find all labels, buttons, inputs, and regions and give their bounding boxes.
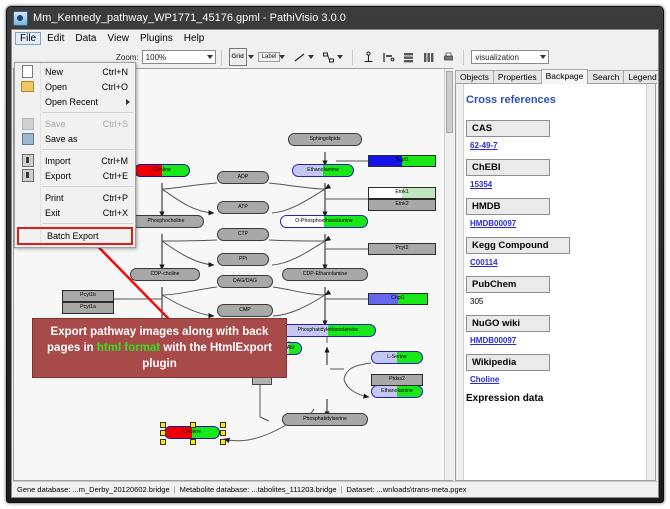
gene-ptdss2[interactable]: Ptdss2 [371, 374, 423, 386]
import-icon [21, 154, 34, 167]
xref-pubchem: PubChem 305 [466, 276, 643, 306]
toolbar-separator-3 [463, 50, 464, 65]
chevron-down-icon-2 [540, 55, 546, 59]
status-metabolite-db-label: Metabolite database: [180, 485, 250, 494]
xref-pubchem-value: 305 [470, 297, 643, 306]
file-menu-print[interactable]: Print Ctrl+P [15, 190, 135, 205]
file-menu-new-label: New [45, 67, 63, 77]
gene-label: Pcyt1b [80, 293, 96, 298]
menu-view[interactable]: View [102, 32, 134, 45]
xref-nugo: NuGO wiki HMDB00097 [466, 315, 643, 345]
resize-handle-sw[interactable] [160, 439, 166, 445]
label-dropdown-icon[interactable] [279, 55, 285, 59]
open-folder-icon [21, 80, 34, 93]
gene-pcyt1a[interactable]: Pcyt1a [62, 302, 114, 314]
node-cdp-ethanolamine[interactable]: CDP-Ethanolamine [282, 268, 368, 281]
tab-properties[interactable]: Properties [493, 70, 542, 83]
node-label: Choline [183, 430, 201, 435]
menu-file[interactable]: File [15, 32, 41, 45]
scrollbar-thumb[interactable] [446, 71, 453, 133]
anchor-icon[interactable] [360, 49, 376, 65]
window-title: Mm_Kennedy_pathway_WP1771_45176.gpml - P… [33, 12, 346, 24]
file-menu-exit-accel: Ctrl+X [103, 208, 128, 218]
gene-label: Chpt1 [391, 296, 405, 301]
file-menu-separator-4 [42, 223, 133, 224]
file-menu-batch-export[interactable]: Batch Export [17, 227, 133, 245]
node-label: CDP-Ethanolamine [303, 272, 347, 277]
label-button[interactable]: Label [258, 52, 281, 62]
gene-label: Etnk2 [395, 202, 408, 207]
file-menu-open-accel: Ctrl+O [102, 82, 128, 92]
print-icon[interactable] [440, 49, 456, 65]
file-menu-print-label: Print [45, 193, 64, 203]
file-menu-import-label: Import [45, 156, 71, 166]
gene-label: Pcyt2 [396, 246, 409, 251]
expression-data-heading: Expression data [466, 393, 643, 404]
xref-wikipedia-value: Choline [470, 375, 643, 384]
status-divider-1: | [174, 485, 176, 494]
xref-cas-value: 62-49-7 [470, 141, 643, 150]
save-icon [21, 117, 34, 130]
xref-pubchem-source: PubChem [466, 276, 550, 293]
xref-hmdb-source: HMDB [466, 198, 550, 215]
save-as-icon [21, 132, 34, 145]
status-bar: Gene database: ...m_Derby_20120602.bridg… [13, 481, 657, 496]
file-menu-save-accel: Ctrl+S [103, 119, 128, 129]
xref-chebi-value: 15354 [470, 180, 643, 189]
node-label: DAG/DAG [233, 279, 257, 284]
new-file-icon [21, 65, 34, 78]
align-left-icon[interactable] [380, 49, 396, 65]
zoom-label: Zoom: [116, 53, 139, 62]
node-label: L-Serine [387, 355, 407, 360]
node-ppi[interactable]: PPi [217, 253, 269, 266]
node-label: CTP [238, 232, 248, 237]
line-tool-icon[interactable] [291, 49, 307, 65]
xref-wikipedia-link[interactable]: Choline [470, 375, 499, 384]
node-cdp-choline[interactable]: CDP-choline [130, 268, 200, 281]
resize-handle-nw[interactable] [160, 422, 166, 428]
file-menu-save-as[interactable]: Save as [15, 131, 135, 146]
xref-cas-source: CAS [466, 120, 550, 137]
node-cmp[interactable]: CMP [217, 304, 273, 317]
file-menu-open-recent[interactable]: Open Recent [15, 94, 135, 109]
visualization-combo[interactable]: visualization [471, 50, 549, 64]
file-menu-import-accel: Ctrl+M [101, 156, 128, 166]
distribute-icon[interactable] [420, 49, 436, 65]
tab-objects[interactable]: Objects [455, 70, 494, 83]
node-choline-top[interactable]: Choline [134, 164, 190, 177]
file-menu-export[interactable]: Export Ctrl+E [15, 168, 135, 183]
resize-handle-w[interactable] [160, 430, 166, 436]
xref-nugo-link[interactable]: HMDB00097 [470, 336, 516, 345]
node-phosphatidylserine[interactable]: Phosphatidylserine [282, 413, 368, 426]
node-dag[interactable]: DAG/DAG [217, 275, 273, 288]
gene-label: Etnk1 [395, 190, 408, 195]
file-menu-popup[interactable]: New Ctrl+N Open Ctrl+O Open Recent Save [14, 62, 136, 248]
screenshot-root: Mm_Kennedy_pathway_WP1771_45176.gpml - P… [0, 0, 670, 509]
window-client-area: File Edit Data View Plugins Help Zoom: 1… [11, 29, 659, 498]
gene-label: Pcyt1a [80, 305, 96, 310]
visualization-value: visualization [475, 53, 519, 62]
node-adp[interactable]: ADP [217, 171, 269, 184]
gene-label: Ptdss2 [389, 377, 405, 382]
node-label: Phosphatidylethanolamine [298, 328, 359, 333]
node-label: Ethanolamine [381, 389, 413, 394]
backpage-content: Cross references CAS 62-49-7 ChEBI 15354… [455, 83, 656, 481]
node-label: Phosphocholine [148, 219, 185, 224]
file-menu-exit-label: Exit [45, 208, 60, 218]
zoom-value: 100% [146, 53, 166, 62]
resize-handle-e[interactable] [220, 430, 226, 436]
status-dataset-label: Dataset: [346, 485, 374, 494]
xref-chebi: ChEBI 15354 [466, 159, 643, 189]
resize-handle-s[interactable] [190, 439, 196, 445]
node-label: Ethanolamine [307, 168, 339, 173]
file-menu-open-recent-label: Open Recent [45, 97, 98, 107]
line-dropdown-icon[interactable] [308, 55, 314, 59]
gene-pcyt2[interactable]: Pcyt2 [368, 243, 436, 255]
app-icon [13, 11, 28, 26]
chevron-down-icon [207, 55, 213, 59]
gene-etnk2[interactable]: Etnk2 [368, 199, 436, 211]
xref-wikipedia: Wikipedia Choline [466, 354, 643, 384]
xref-cas-link[interactable]: 62-49-7 [470, 141, 498, 150]
gene-label: Sgpl1 [395, 158, 408, 163]
backpage-left-gutter [456, 84, 464, 480]
submenu-arrow-icon [126, 99, 130, 105]
window-titlebar: Mm_Kennedy_pathway_WP1771_45176.gpml - P… [7, 7, 663, 29]
xref-nugo-source: NuGO wiki [466, 315, 550, 332]
shape-dropdown-icon[interactable] [337, 55, 343, 59]
file-menu-print-accel: Ctrl+P [103, 193, 128, 203]
file-menu-batch-export-label: Batch Export [47, 231, 99, 241]
node-ethanolamine-top[interactable]: Ethanolamine [292, 164, 354, 177]
status-gene-db-label: Gene database: [17, 485, 70, 494]
cross-references-panel: Cross references CAS 62-49-7 ChEBI 15354… [466, 90, 643, 480]
status-gene-db-value: ...m_Derby_20120602.bridge [72, 485, 169, 494]
export-icon [21, 169, 34, 182]
xref-nugo-value: HMDB00097 [470, 336, 643, 345]
file-menu-exit[interactable]: Exit Ctrl+X [15, 205, 135, 220]
file-menu-separator-2 [42, 149, 133, 150]
side-panel: Objects Properties Backpage Search Legen… [453, 68, 657, 481]
zoom-combo[interactable]: 100% [142, 50, 216, 64]
gene-pcyt1b[interactable]: Pcyt1b [62, 290, 114, 302]
grid-button[interactable]: Grid [229, 48, 247, 66]
xref-kegg-value: C00114 [470, 258, 643, 267]
xref-hmdb-link[interactable]: HMDB00097 [470, 219, 516, 228]
menu-data[interactable]: Data [70, 32, 101, 45]
menu-bar: File Edit Data View Plugins Help [12, 30, 658, 47]
xref-chebi-link[interactable]: 15354 [470, 180, 492, 189]
node-label: CDP-choline [150, 272, 179, 277]
file-menu-save[interactable]: Save Ctrl+S [15, 116, 135, 131]
status-metabolite-db-value: ...tabolites_111203.bridge [251, 485, 336, 494]
file-menu-export-label: Export [45, 171, 71, 181]
xref-hmdb-value: HMDB00097 [470, 219, 643, 228]
xref-kegg-source: Kegg Compound [466, 237, 570, 254]
tab-backpage[interactable]: Backpage [541, 69, 589, 84]
xref-wikipedia-source: Wikipedia [466, 354, 550, 371]
backpage-vertical-scrollbar[interactable] [646, 84, 655, 480]
node-label: ADP [238, 175, 249, 180]
node-ethanolamine-bottom[interactable]: Ethanolamine [371, 385, 423, 398]
node-sphingolipids[interactable]: Sphingolipids [288, 133, 362, 146]
node-label: Sphingolipids [310, 137, 341, 142]
file-menu-open-label: Open [45, 82, 67, 92]
file-menu-import[interactable]: Import Ctrl+M [15, 153, 135, 168]
node-o-phosphoethanolamine[interactable]: O-Phosphoethanolamine [280, 215, 368, 228]
callout-text: Export pathway images along with back pa… [39, 324, 280, 372]
resize-handle-ne[interactable] [220, 422, 226, 428]
node-phosphocholine[interactable]: Phosphocholine [128, 215, 204, 228]
shape-tool-icon[interactable] [320, 49, 336, 65]
file-menu-save-label: Save [45, 119, 66, 129]
xref-cas: CAS 62-49-7 [466, 120, 643, 150]
grid-dropdown-icon[interactable] [248, 55, 254, 59]
node-ctp[interactable]: CTP [217, 228, 269, 241]
side-panel-tabs: Objects Properties Backpage Search Legen… [455, 68, 657, 84]
file-menu-separator-1 [42, 112, 133, 113]
node-label: CMP [239, 308, 251, 313]
node-label: ATP [238, 205, 248, 210]
callout-part2: with the HtmlExport plugin [142, 342, 272, 370]
menu-edit[interactable]: Edit [42, 32, 69, 45]
toolbar-separator [221, 50, 222, 65]
toolbar-separator-2 [352, 50, 353, 65]
xref-kegg-link[interactable]: C00114 [470, 258, 498, 267]
menu-help[interactable]: Help [179, 32, 210, 45]
align-stack-icon[interactable] [400, 49, 416, 65]
cross-references-heading: Cross references [466, 94, 643, 106]
file-menu-new[interactable]: New Ctrl+N [15, 64, 135, 79]
file-menu-export-accel: Ctrl+E [103, 171, 128, 181]
node-label: Phosphatidylserine [303, 417, 347, 422]
node-l-serine[interactable]: L-Serine [371, 351, 423, 364]
xref-chebi-source: ChEBI [466, 159, 550, 176]
application-window: Mm_Kennedy_pathway_WP1771_45176.gpml - P… [6, 6, 664, 503]
node-atp[interactable]: ATP [217, 201, 269, 214]
xref-hmdb: HMDB HMDB00097 [466, 198, 643, 228]
gene-sgpl1[interactable]: Sgpl1 [368, 155, 436, 167]
node-label: Choline [153, 168, 171, 173]
xref-kegg: Kegg Compound C00114 [466, 237, 643, 267]
node-label: PPi [239, 257, 247, 262]
file-menu-open[interactable]: Open Ctrl+O [15, 79, 135, 94]
gene-etnk1[interactable]: Etnk1 [368, 187, 436, 199]
file-menu-save-as-label: Save as [45, 134, 78, 144]
node-label: O-Phosphoethanolamine [295, 219, 352, 224]
tab-legend[interactable]: Legend [623, 70, 659, 83]
gene-chpt1[interactable]: Chpt1 [368, 293, 428, 305]
file-menu-new-accel: Ctrl+N [102, 67, 128, 77]
status-dataset-value: ...wnloads\trans-meta.pgex [377, 485, 467, 494]
callout-highlight: html format [97, 342, 160, 354]
tab-search[interactable]: Search [587, 70, 624, 83]
resize-handle-n[interactable] [190, 422, 196, 428]
status-divider-2: | [341, 485, 343, 494]
node-phosphatidylethanolamine[interactable]: Phosphatidylethanolamine [280, 324, 376, 337]
file-menu-separator-3 [42, 186, 133, 187]
resize-handle-se[interactable] [220, 439, 226, 445]
annotation-callout: Export pathway images along with back pa… [32, 318, 287, 378]
menu-plugins[interactable]: Plugins [135, 32, 178, 45]
